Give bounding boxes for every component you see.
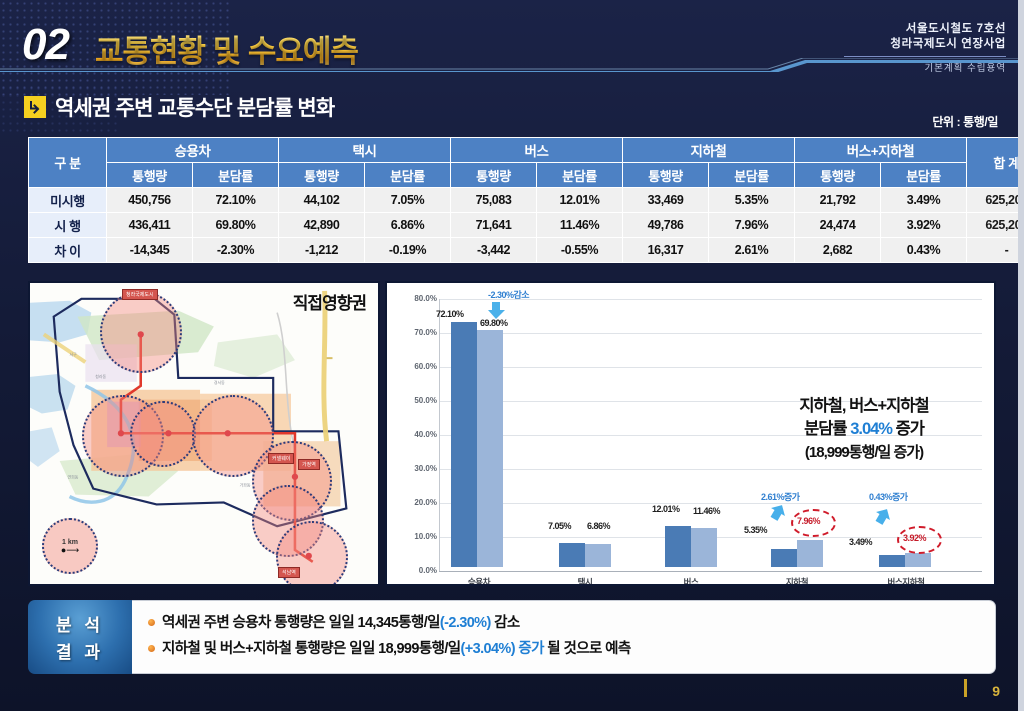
bar-value-label: 72.10% (436, 309, 464, 319)
table-cell: -3,442 (451, 238, 537, 263)
bar-value-label: 12.01% (652, 504, 680, 514)
analysis-tag-line-2: 결 과 (56, 638, 104, 663)
table-cell: -2.30% (193, 238, 279, 263)
slide-right-edge (1018, 0, 1024, 711)
gridline (439, 469, 982, 470)
map-scale-indicator: 1 km ●⟶ (42, 518, 98, 574)
page-number: 9 (992, 683, 1000, 699)
arrow-up-icon (769, 503, 789, 523)
callout-line-1: 지하철, 버스+지하철 (748, 395, 980, 418)
table-cell: 0.43% (881, 238, 967, 263)
station-label: 가정역 (298, 459, 320, 470)
bar-bus-subway-after (905, 553, 931, 567)
table-unit-note: 단위 : 통행/일 (932, 113, 998, 130)
table-sub-header-volume-taxi: 통행량 (279, 163, 365, 188)
table-sub-header-share-subway: 분담률 (709, 163, 795, 188)
table-cell: 2.61% (709, 238, 795, 263)
callout-line-2-post: 증가 (892, 420, 924, 438)
bar-bus-before (665, 526, 691, 567)
table-total-header: 합 계 (967, 138, 1024, 188)
bar-value-label: 6.86% (587, 521, 610, 531)
analysis-item-highlight: (-2.30%) (440, 615, 491, 631)
analysis-item-text: 역세권 주변 승용차 통행량은 일일 14,345통행/일(-2.30%) 감소 (162, 610, 520, 636)
analysis-item-pre: 역세권 주변 승용차 통행량은 일일 14,345통행/일 (162, 615, 440, 631)
table-cell: 33,469 (623, 188, 709, 213)
table-cell: 5.35% (709, 188, 795, 213)
analysis-item-pre: 지하철 및 버스+지하철 통행량은 일일 18,999통행/일 (162, 641, 461, 657)
y-tick-label: 70.0% (393, 328, 437, 337)
y-tick-label: 0.0% (393, 566, 437, 575)
table-cell: 21,792 (795, 188, 881, 213)
table-sub-header-share-car: 분담률 (193, 163, 279, 188)
project-line-1: 서울도시철도 7호선 (844, 22, 1006, 37)
annotation-subway-increase: 2.61%증가 (761, 490, 800, 503)
gridline (439, 503, 982, 504)
y-tick-label: 60.0% (393, 362, 437, 371)
station-label: 커넬웨이 (268, 453, 294, 464)
gridline (439, 367, 982, 368)
table-header-row-subs: 통행량 분담률 통행량 분담률 통행량 분담률 통행량 분담률 통행량 분담률 (29, 163, 1024, 188)
arrow-down-icon (487, 299, 509, 321)
table-header-row-groups: 구 분 승용차 택시 버스 지하철 버스+지하철 합 계 (29, 138, 1024, 163)
modal-share-table-wrapper: 구 분 승용차 택시 버스 지하철 버스+지하철 합 계 통행량 분담률 통행량… (28, 137, 996, 263)
table-cell: -1,212 (279, 238, 365, 263)
table-cell: 75,083 (451, 188, 537, 213)
section-number: 02 (22, 20, 69, 70)
table-sub-header-volume-subway: 통행량 (623, 163, 709, 188)
callout-highlight-value: 3.04% (850, 420, 892, 438)
slide-root: 02 교통현황 및 수요예측 서울도시철도 7호선 청라국제도시 연장사업 기본… (0, 0, 1024, 711)
project-identity: 서울도시철도 7호선 청라국제도시 연장사업 기본계획 수립용역 (844, 22, 1006, 74)
arrow-right-icon: ●⟶ (61, 547, 79, 553)
analysis-tag-line-1: 분 석 (56, 611, 104, 636)
callout-line-3: (18,999통행/일 증가) (748, 441, 980, 464)
table-sub-header-volume-car: 통행량 (107, 163, 193, 188)
table-group-header-taxi: 택시 (279, 138, 451, 163)
table-cell: 42,890 (279, 213, 365, 238)
analysis-item-text: 지하철 및 버스+지하철 통행량은 일일 18,999통행/일(+3.04%) … (162, 636, 631, 662)
table-cell-total: 625,202 (967, 213, 1024, 238)
table-head: 구 분 승용차 택시 버스 지하철 버스+지하철 합 계 통행량 분담률 통행량… (29, 138, 1024, 188)
table-group-header-subway: 지하철 (623, 138, 795, 163)
bar-subway-before (771, 549, 797, 567)
table-cell: 24,474 (795, 213, 881, 238)
header-divider (844, 56, 1006, 57)
table-body: 미시행 450,756 72.10% 44,102 7.05% 75,083 1… (29, 188, 1024, 263)
bar-taxi-after (585, 544, 611, 567)
influence-zone-circle (100, 291, 182, 373)
bar-taxi-before (559, 543, 585, 567)
station-label: 청라국제도시 (122, 289, 158, 300)
modal-share-table: 구 분 승용차 택시 버스 지하철 버스+지하철 합 계 통행량 분담률 통행량… (28, 137, 1024, 263)
bar-car-before (451, 322, 477, 567)
svg-text:서구: 서구 (70, 352, 78, 357)
table-group-header-bus-subway: 버스+지하철 (795, 138, 967, 163)
slide-title: 교통현황 및 수요예측 (95, 26, 358, 71)
y-axis-line (439, 299, 440, 571)
highlight-circle-bus-subway (897, 526, 942, 554)
x-tick-label: 택시 (545, 576, 625, 586)
table-cell: 450,756 (107, 188, 193, 213)
table-cell-total: 625,202 (967, 188, 1024, 213)
bar-subway-after (797, 540, 823, 567)
y-tick-label: 30.0% (393, 464, 437, 473)
map-title-label: 직접영향권 (293, 289, 366, 314)
table-cell: 44,102 (279, 188, 365, 213)
x-tick-label: 지하철 (757, 576, 837, 586)
table-cell: -0.55% (537, 238, 623, 263)
table-row: 미시행 450,756 72.10% 44,102 7.05% 75,083 1… (29, 188, 1024, 213)
table-cell: 12.01% (537, 188, 623, 213)
table-row-label: 미시행 (29, 188, 107, 213)
bar-bus-after (691, 528, 717, 567)
table-cell-total: - (967, 238, 1024, 263)
arrow-up-icon (874, 507, 894, 527)
table-cell: 72.10% (193, 188, 279, 213)
table-cell: 436,411 (107, 213, 193, 238)
analysis-item-post: 감소 (491, 615, 520, 631)
table-sub-header-share-bus: 분담률 (537, 163, 623, 188)
table-sub-header-share-taxi: 분담률 (365, 163, 451, 188)
arrow-down-right-icon (24, 96, 46, 118)
table-sub-header-share-bus-subway: 분담률 (881, 163, 967, 188)
callout-line-2: 분담률 3.04% 증가 (748, 418, 980, 441)
bar-value-label: 7.05% (548, 521, 571, 531)
callout-line-2-pre: 분담률 (804, 420, 850, 438)
y-tick-label: 20.0% (393, 498, 437, 507)
table-group-header-car: 승용차 (107, 138, 279, 163)
bar-chart: 80.0% 70.0% 60.0% 50.0% 40.0% 30.0% 20.0… (387, 283, 994, 584)
section-heading-label: 역세권 주변 교통수단 분담률 변화 (55, 92, 334, 122)
section-heading: 역세권 주변 교통수단 분담률 변화 (24, 92, 334, 122)
y-tick-label: 10.0% (393, 532, 437, 541)
analysis-tag: 분 석 결 과 (28, 600, 132, 674)
table-group-header-bus: 버스 (451, 138, 623, 163)
svg-text:청라동: 청라동 (95, 374, 106, 379)
project-line-2: 청라국제도시 연장사업 (844, 37, 1006, 52)
bar-value-label: 3.49% (849, 537, 872, 547)
bar-car-after (477, 330, 503, 567)
annotation-bus-subway-increase: 0.43%증가 (869, 490, 908, 503)
table-cell: 7.96% (709, 213, 795, 238)
svg-text:가좌동: 가좌동 (240, 483, 251, 488)
table-cell: 11.46% (537, 213, 623, 238)
table-cell: 49,786 (623, 213, 709, 238)
table-cell: 71,641 (451, 213, 537, 238)
influence-area-map-panel: 서구청라동 경서동가좌동 연희동 직접영향권 청라국제도시 커넬웨이 가정역 석… (28, 281, 380, 586)
influence-zone-circle (130, 401, 196, 467)
analysis-item: 지하철 및 버스+지하철 통행량은 일일 18,999통행/일(+3.04%) … (148, 636, 995, 662)
station-label: 석남역 (278, 567, 300, 578)
bar-value-label: 5.35% (744, 525, 767, 535)
x-tick-label: 승용차 (439, 576, 519, 586)
project-line-3: 기본계획 수립용역 (844, 60, 1006, 74)
modal-share-chart-panel: 80.0% 70.0% 60.0% 50.0% 40.0% 30.0% 20.0… (385, 281, 996, 586)
svg-text:연희동: 연희동 (68, 475, 79, 480)
table-cell: 3.49% (881, 188, 967, 213)
analysis-body: 역세권 주변 승용차 통행량은 일일 14,345통행/일(-2.30%) 감소… (132, 600, 996, 674)
y-tick-label: 50.0% (393, 396, 437, 405)
table-row-label: 차 이 (29, 238, 107, 263)
y-tick-label: 80.0% (393, 294, 437, 303)
svg-text:경서동: 경서동 (214, 380, 225, 385)
table-cell: 2,682 (795, 238, 881, 263)
table-row-label: 시 행 (29, 213, 107, 238)
analysis-item: 역세권 주변 승용차 통행량은 일일 14,345통행/일(-2.30%) 감소 (148, 610, 995, 636)
table-cell: 6.86% (365, 213, 451, 238)
analysis-item-post: 될 것으로 예측 (544, 641, 631, 657)
table-cell: 16,317 (623, 238, 709, 263)
bar-value-label: 11.46% (693, 506, 720, 516)
table-cell: -0.19% (365, 238, 451, 263)
x-axis-line (439, 571, 982, 572)
highlight-circle-subway (791, 509, 836, 537)
table-cell: 3.92% (881, 213, 967, 238)
gridline (439, 333, 982, 334)
table-row: 차 이 -14,345 -2.30% -1,212 -0.19% -3,442 … (29, 238, 1024, 263)
slide-header: 02 교통현황 및 수요예측 서울도시철도 7호선 청라국제도시 연장사업 기본… (0, 0, 1024, 86)
bullet-icon (148, 619, 155, 626)
table-cell: 69.80% (193, 213, 279, 238)
analysis-result-box: 분 석 결 과 역세권 주변 승용차 통행량은 일일 14,345통행/일(-2… (28, 600, 996, 674)
x-tick-label: 버스지하철 (863, 576, 949, 586)
table-cell: 7.05% (365, 188, 451, 213)
chart-callout: 지하철, 버스+지하철 분담률 3.04% 증가 (18,999통행/일 증가) (748, 395, 980, 464)
table-sub-header-volume-bus: 통행량 (451, 163, 537, 188)
bar-bus-subway-before (879, 555, 905, 567)
bullet-icon (148, 645, 155, 652)
table-row: 시 행 436,411 69.80% 42,890 6.86% 71,641 1… (29, 213, 1024, 238)
x-tick-label: 버스 (651, 576, 731, 586)
analysis-item-highlight: (+3.04%) 증가 (461, 641, 544, 657)
table-corner-header: 구 분 (29, 138, 107, 188)
y-tick-label: 40.0% (393, 430, 437, 439)
page-number-bar (964, 679, 967, 697)
table-sub-header-volume-bus-subway: 통행량 (795, 163, 881, 188)
table-cell: -14,345 (107, 238, 193, 263)
